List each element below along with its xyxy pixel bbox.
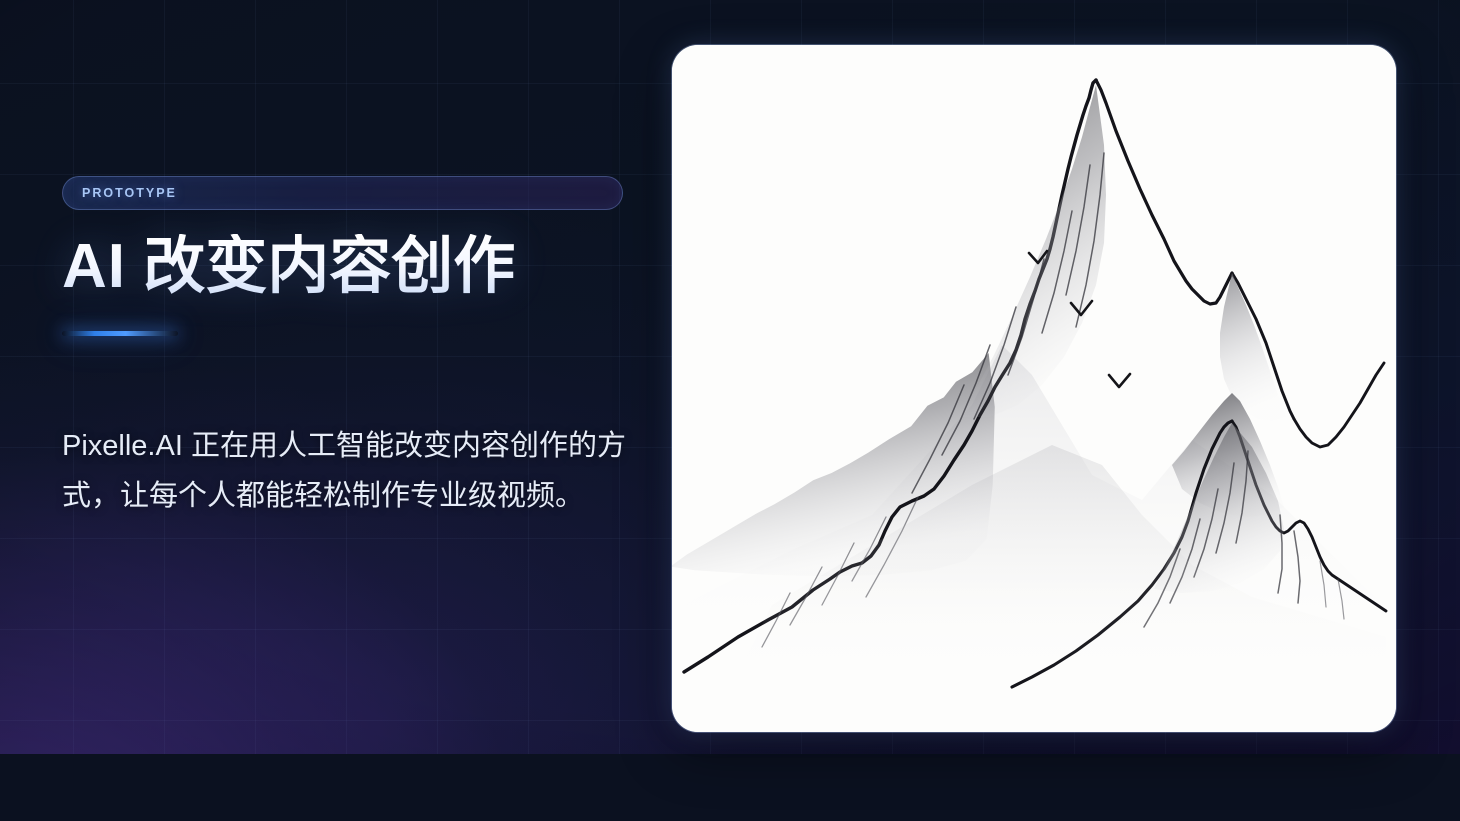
slide-canvas: PROTOTYPE AI 改变内容创作 Pixelle.AI 正在用人工智能改变… bbox=[0, 0, 1460, 821]
text-column: PROTOTYPE AI 改变内容创作 Pixelle.AI 正在用人工智能改变… bbox=[62, 0, 642, 754]
title-accent-bar bbox=[62, 331, 178, 336]
status-badge-label: PROTOTYPE bbox=[82, 186, 177, 200]
illustration-card bbox=[672, 45, 1396, 732]
footer-strip bbox=[0, 754, 1460, 821]
page-title: AI 改变内容创作 bbox=[62, 234, 662, 301]
page-title-lead: AI bbox=[62, 232, 126, 301]
page-title-rest: 改变内容创作 bbox=[143, 232, 515, 301]
status-badge: PROTOTYPE bbox=[62, 176, 623, 210]
body-paragraph: Pixelle.AI 正在用人工智能改变内容创作的方式，让每个人都能轻松制作专业… bbox=[62, 422, 630, 522]
mountain-ink-sketch-icon bbox=[672, 45, 1396, 732]
